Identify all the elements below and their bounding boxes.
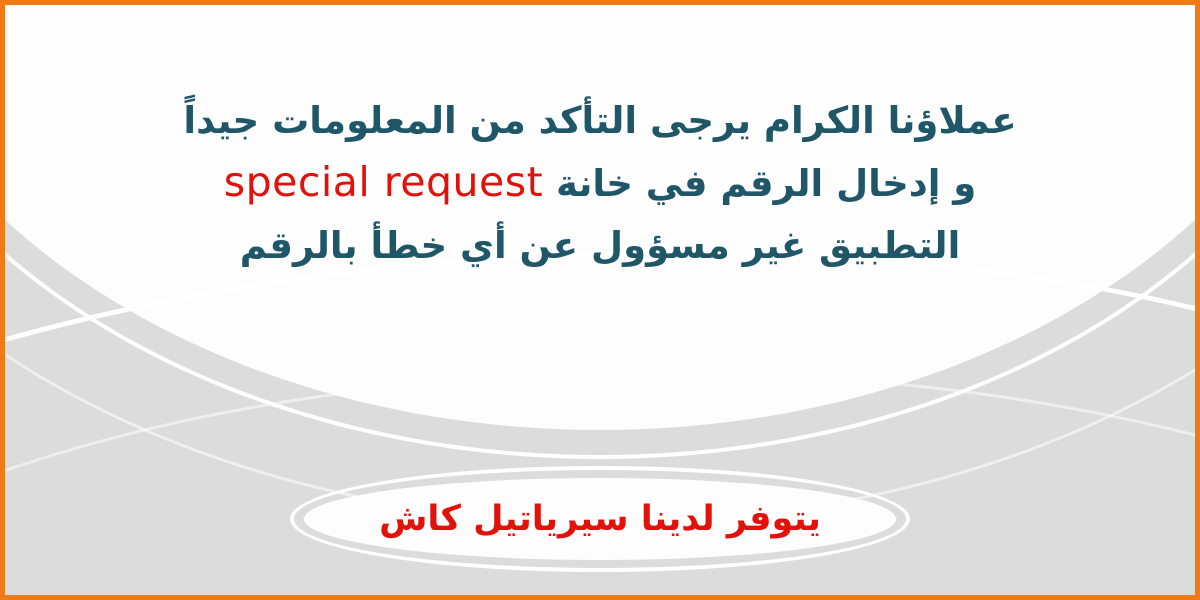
headline-line-1-text: عملاؤنا الكرام يرجى التأكد من المعلومات …	[183, 99, 1016, 142]
badge-label: يتوفر لدينا سيرياتيل كاش	[379, 502, 821, 537]
headline-line-2: و إدخال الرقم في خانة special request	[125, 150, 1075, 216]
headline-block: عملاؤنا الكرام يرجى التأكد من المعلومات …	[5, 91, 1195, 275]
headline-line-1: عملاؤنا الكرام يرجى التأكد من المعلومات …	[125, 91, 1075, 150]
special-request-accent: special request	[224, 158, 543, 206]
headline-line-3: التطبيق غير مسؤول عن أي خطأ بالرقم	[125, 216, 1075, 275]
headline-line-2-prefix: و إدخال الرقم في خانة	[543, 162, 976, 205]
headline-line-3-text: التطبيق غير مسؤول عن أي خطأ بالرقم	[240, 224, 961, 267]
promo-banner: عملاؤنا الكرام يرجى التأكد من المعلومات …	[0, 0, 1200, 600]
badge-pill: يتوفر لدينا سيرياتيل كاش	[304, 478, 896, 560]
syriatel-cash-badge: يتوفر لدينا سيرياتيل كاش	[290, 466, 910, 572]
